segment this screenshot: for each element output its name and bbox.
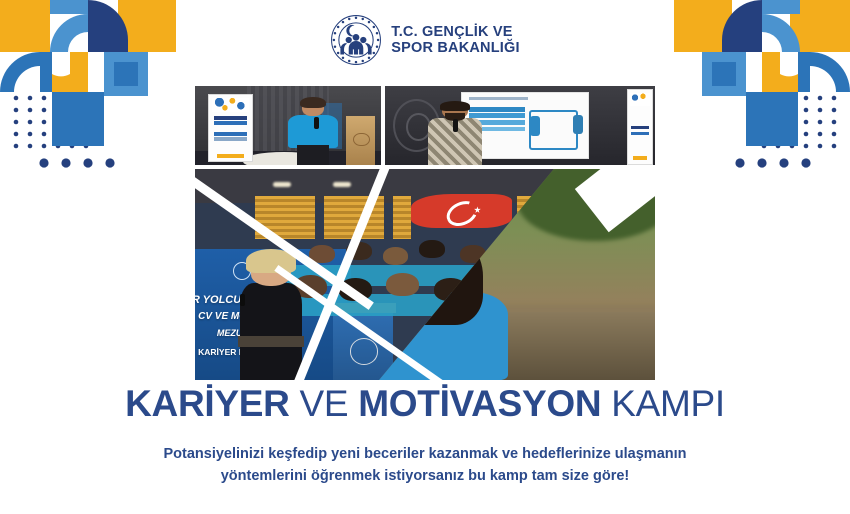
title-part-1: KARİYER [125, 383, 289, 424]
subtitle-line-2: yöntemlerini öğrenmek istiyorsanız bu ka… [0, 466, 850, 488]
photo-presenter-screen [385, 86, 655, 165]
title-part-4: KAMPI [611, 383, 725, 424]
ministry-line-2: SPOR BAKANLIĞI [391, 40, 519, 56]
person-female-speaker [232, 249, 310, 380]
rollup-banner [208, 94, 253, 162]
page-title: KARİYER VE MOTİVASYON KAMPI [0, 385, 850, 422]
person-presenter [428, 103, 482, 165]
rollup-banner-right [627, 89, 653, 165]
page-subtitle: Potansiyelinizi keşfedip yeni beceriler … [0, 444, 850, 488]
dot-row-large [39, 158, 114, 167]
photo-collage: R YOLCULUĞUNUZ CV VE MOTİVASYON MEZUN KA… [195, 86, 655, 380]
ministry-emblem-icon [330, 14, 382, 66]
title-part-3: MOTİVASYON [358, 383, 601, 424]
ministry-logo: T.C. GENÇLİK VE SPOR BAKANLIĞI [0, 14, 850, 66]
subtitle-line-1: Potansiyelinizi keşfedip yeni beceriler … [0, 444, 850, 466]
person-speaker [288, 99, 338, 165]
poster-canvas: T.C. GENÇLİK VE SPOR BAKANLIĞI [0, 0, 850, 514]
title-part-2: VE [300, 383, 349, 424]
photo-audience-and-archery: R YOLCULUĞUNUZ CV VE MOTİVASYON MEZUN KA… [195, 169, 655, 380]
ministry-name: T.C. GENÇLİK VE SPOR BAKANLIĞI [391, 24, 519, 56]
photo-speaker-stage [195, 86, 381, 165]
ministry-line-1: T.C. GENÇLİK VE [391, 24, 519, 40]
